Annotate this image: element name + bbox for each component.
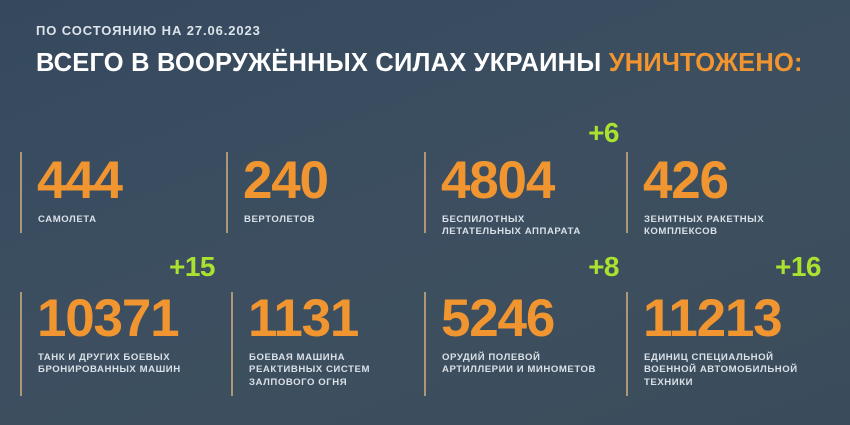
stat-value: 1131 [248,292,358,345]
stat-caption: ОРУДИЙ ПОЛЕВОЙ АРТИЛЛЕРИИ И МИНОМЕТОВ [442,352,596,377]
stat-caption: ЗЕНИТНЫХ РАКЕТНЫХ КОМПЛЕКСОВ [644,214,764,239]
delta-badge: +16 [643,252,821,282]
cell-divider [20,152,22,233]
stat-cell: +16 11213 ЕДИНИЦ СПЕЦИАЛЬНОЙ ВОЕННОЙ АВТ… [626,252,850,402]
stat-cell: +8 5246 ОРУДИЙ ПОЛЕВОЙ АРТИЛЛЕРИИ И МИНО… [424,252,626,402]
stat-cell: +6 4804 БЕСПИЛОТНЫХ ЛЕТАТЕЛЬНЫХ АППАРАТА [424,118,626,246]
stat-cell: 444 САМОЛЕТА [20,118,226,246]
page-title: ВСЕГО В ВООРУЖЁННЫХ СИЛАХ УКРАИНЫ УНИЧТО… [36,49,830,77]
stat-value: 240 [243,154,328,207]
stat-cell: +15 10371 ТАНК И ДРУГИХ БОЕВЫХ БРОНИРОВА… [20,252,231,402]
cell-divider [231,292,233,396]
stat-value: 444 [37,154,122,207]
stat-value: 4804 [441,154,554,207]
cell-divider [424,292,426,396]
stats-row-1: 444 САМОЛЕТА 240 ВЕРТОЛЕТОВ +6 4804 БЕСП… [0,118,850,246]
status-date: ПО СОСТОЯНИЮ НА 27.06.2023 [36,22,830,40]
delta-badge: +6 [441,118,619,148]
stat-caption: БЕСПИЛОТНЫХ ЛЕТАТЕЛЬНЫХ АППАРАТА [442,214,581,239]
cell-divider [20,292,22,396]
infographic-root: ПО СОСТОЯНИЮ НА 27.06.2023 ВСЕГО В ВООРУ… [0,0,850,425]
stat-caption: САМОЛЕТА [38,214,97,226]
stat-caption: БОЕВАЯ МАШИНА РЕАКТИВНЫХ СИСТЕМ ЗАЛПОВОГ… [249,352,370,389]
stat-caption: ВЕРТОЛЕТОВ [244,214,315,226]
page-title-main: ВСЕГО В ВООРУЖЁННЫХ СИЛАХ УКРАИНЫ [36,49,609,77]
stat-value: 10371 [37,292,178,345]
stat-cell: 1131 БОЕВАЯ МАШИНА РЕАКТИВНЫХ СИСТЕМ ЗАЛ… [231,252,424,402]
stat-cell: 426 ЗЕНИТНЫХ РАКЕТНЫХ КОМПЛЕКСОВ [626,118,850,246]
stat-value: 426 [643,154,728,207]
stat-cell: 240 ВЕРТОЛЕТОВ [226,118,424,246]
stat-value: 5246 [441,292,554,345]
stats-row-2: +15 10371 ТАНК И ДРУГИХ БОЕВЫХ БРОНИРОВА… [0,252,850,402]
cell-divider [226,152,228,233]
header: ПО СОСТОЯНИЮ НА 27.06.2023 ВСЕГО В ВООРУ… [36,22,830,77]
cell-divider [626,292,628,396]
stat-caption: ТАНК И ДРУГИХ БОЕВЫХ БРОНИРОВАННЫХ МАШИН [38,352,181,377]
delta-badge: +8 [441,252,619,282]
stat-caption: ЕДИНИЦ СПЕЦИАЛЬНОЙ ВОЕННОЙ АВТОМОБИЛЬНОЙ… [644,352,798,389]
delta-badge: +15 [37,252,215,282]
cell-divider [424,152,426,233]
cell-divider [626,152,628,233]
stat-value: 11213 [643,292,781,345]
page-title-accent: УНИЧТОЖЕНО: [609,49,803,77]
